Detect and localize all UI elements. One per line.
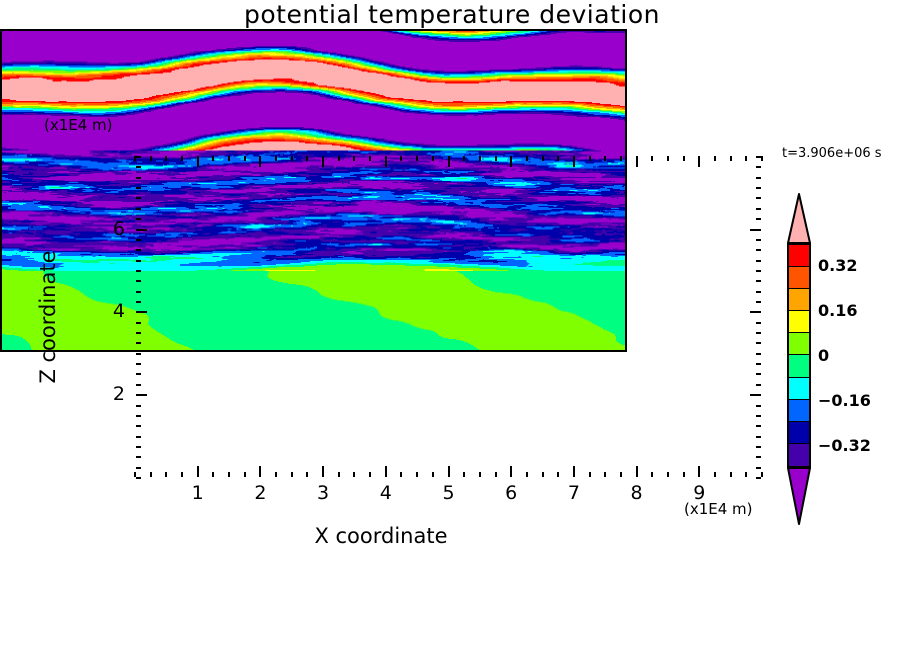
tick-mark [136,332,141,334]
tick-mark [620,472,622,477]
tick-mark [136,311,147,313]
tick-mark [136,477,141,479]
colorbar-tick-label: 0 [818,346,829,365]
tick-mark [714,472,716,477]
tick-mark [136,177,141,179]
tick-mark [667,472,669,477]
tick-mark [136,363,141,365]
tick-mark [698,466,700,477]
tick-mark [136,239,141,241]
colorbar-band [789,400,809,422]
tick-mark [756,456,761,458]
tick-mark [463,156,465,161]
tick-mark [756,218,761,220]
tick-mark [400,472,402,477]
tick-mark [495,156,497,161]
tick-mark [306,156,308,161]
tick-mark [259,156,261,167]
tick-mark [136,291,141,293]
tick-mark [136,270,141,272]
tick-mark [291,472,293,477]
tick-mark [369,156,371,161]
tick-mark [385,156,387,167]
tick-mark [136,218,141,220]
x-tick-label: 6 [496,482,526,504]
tick-mark [353,472,355,477]
tick-mark [756,342,761,344]
colorbar-tick-label: −0.16 [818,391,871,410]
tick-mark [136,415,141,417]
tick-mark [165,472,167,477]
tick-mark [542,472,544,477]
y-axis-label: Z coordinate [36,207,60,427]
tick-mark [136,394,147,396]
tick-mark [542,156,544,161]
y-axis-unit-label: (x1E4 m) [44,116,113,134]
colorbar-band [789,289,809,311]
x-tick-label: 7 [559,482,589,504]
x-tick-label: 8 [622,482,652,504]
tick-mark [667,156,669,161]
tick-mark [432,472,434,477]
tick-mark [181,156,183,161]
colorbar-band [789,245,809,267]
tick-mark [761,472,763,477]
tick-mark [589,156,591,161]
tick-mark [136,249,141,251]
colorbar-tick-label: 0.32 [818,256,857,275]
colorbar-band [789,422,809,444]
tick-mark [306,472,308,477]
tick-mark [756,208,761,210]
tick-mark [136,467,141,469]
tick-mark [573,156,575,167]
tick-mark [322,466,324,477]
colorbar-tick-label: 0.16 [818,301,857,320]
tick-mark [136,322,141,324]
tick-mark [136,425,141,427]
tick-mark [510,466,512,477]
tick-mark [136,373,141,375]
tick-mark [136,280,141,282]
x-tick-label: 5 [434,482,464,504]
tick-mark [714,156,716,161]
tick-mark [479,156,481,161]
tick-mark [756,239,761,241]
tick-mark [136,229,147,231]
tick-mark [756,156,761,158]
colorbar-under-arrow [787,467,811,525]
tick-mark [463,472,465,477]
colorbar-band [789,311,809,333]
tick-mark [275,472,277,477]
colorbar-tick-label: −0.32 [818,436,871,455]
tick-mark [651,472,653,477]
tick-mark [416,156,418,161]
tick-mark [150,472,152,477]
tick-mark [683,472,685,477]
tick-mark [136,353,141,355]
tick-mark [228,156,230,161]
tick-mark [756,177,761,179]
tick-mark [228,472,230,477]
tick-mark [150,156,152,161]
tick-mark [756,405,761,407]
tick-mark [136,301,141,303]
x-axis-label: X coordinate [0,524,762,548]
tick-mark [756,291,761,293]
tick-mark [756,166,761,168]
x-tick-label: 3 [308,482,338,504]
chart-title: potential temperature deviation [0,0,904,29]
x-tick-label: 1 [183,482,213,504]
tick-mark [756,270,761,272]
tick-mark [526,472,528,477]
y-tick-label: 4 [95,300,125,322]
tick-mark [479,472,481,477]
tick-mark [745,156,747,161]
tick-mark [557,156,559,161]
tick-mark [636,466,638,477]
tick-mark [756,467,761,469]
tick-mark [756,197,761,199]
tick-mark [730,156,732,161]
colorbar [787,243,811,468]
colorbar-band [789,378,809,400]
tick-mark [756,425,761,427]
tick-mark [756,373,761,375]
tick-mark [761,156,763,161]
tick-mark [136,342,141,344]
tick-mark [385,466,387,477]
tick-mark [338,156,340,161]
tick-mark [750,229,761,231]
tick-mark [756,280,761,282]
tick-mark [181,472,183,477]
time-annotation: t=3.906e+06 s [782,146,882,161]
x-tick-label: 2 [245,482,275,504]
tick-mark [136,384,141,386]
tick-mark [432,156,434,161]
tick-mark [526,156,528,161]
tick-mark [698,156,700,167]
tick-mark [212,472,214,477]
tick-mark [136,436,141,438]
tick-mark [756,260,761,262]
tick-mark [756,332,761,334]
tick-mark [136,456,141,458]
tick-mark [136,446,141,448]
tick-mark [730,472,732,477]
colorbar-band [789,444,809,466]
tick-mark [416,472,418,477]
tick-mark [651,156,653,161]
tick-mark [369,472,371,477]
colorbar-band [789,355,809,377]
tick-mark [448,156,450,167]
tick-mark [136,197,141,199]
tick-mark [756,436,761,438]
tick-mark [604,156,606,161]
colorbar-band [789,333,809,355]
tick-mark [136,208,141,210]
tick-mark [448,466,450,477]
tick-mark [400,156,402,161]
tick-mark [197,466,199,477]
y-tick-label: 2 [95,383,125,405]
tick-mark [495,472,497,477]
tick-mark [604,472,606,477]
tick-mark [756,477,761,479]
tick-mark [136,260,141,262]
x-axis-unit-label: (x1E4 m) [684,500,753,518]
tick-mark [275,156,277,161]
tick-mark [212,156,214,161]
colorbar-band [789,267,809,289]
tick-mark [510,156,512,167]
tick-mark [589,472,591,477]
tick-mark [756,187,761,189]
tick-mark [745,472,747,477]
tick-mark [750,394,761,396]
tick-mark [291,156,293,161]
x-tick-label: 4 [371,482,401,504]
tick-mark [636,156,638,167]
tick-mark [259,466,261,477]
tick-mark [756,446,761,448]
tick-mark [244,156,246,161]
tick-mark [338,472,340,477]
tick-mark [683,156,685,161]
tick-mark [756,301,761,303]
tick-mark [165,156,167,161]
tick-mark [750,311,761,313]
tick-mark [756,353,761,355]
tick-mark [557,472,559,477]
y-tick-label: 6 [95,218,125,240]
tick-mark [197,156,199,167]
tick-mark [136,405,141,407]
tick-mark [136,156,141,158]
colorbar-over-arrow [787,193,811,244]
tick-mark [756,363,761,365]
tick-mark [353,156,355,161]
tick-mark [322,156,324,167]
tick-mark [573,466,575,477]
tick-mark [620,156,622,161]
tick-mark [756,322,761,324]
tick-mark [136,166,141,168]
tick-mark [756,415,761,417]
tick-mark [244,472,246,477]
tick-mark [136,187,141,189]
tick-mark [756,249,761,251]
tick-mark [756,384,761,386]
